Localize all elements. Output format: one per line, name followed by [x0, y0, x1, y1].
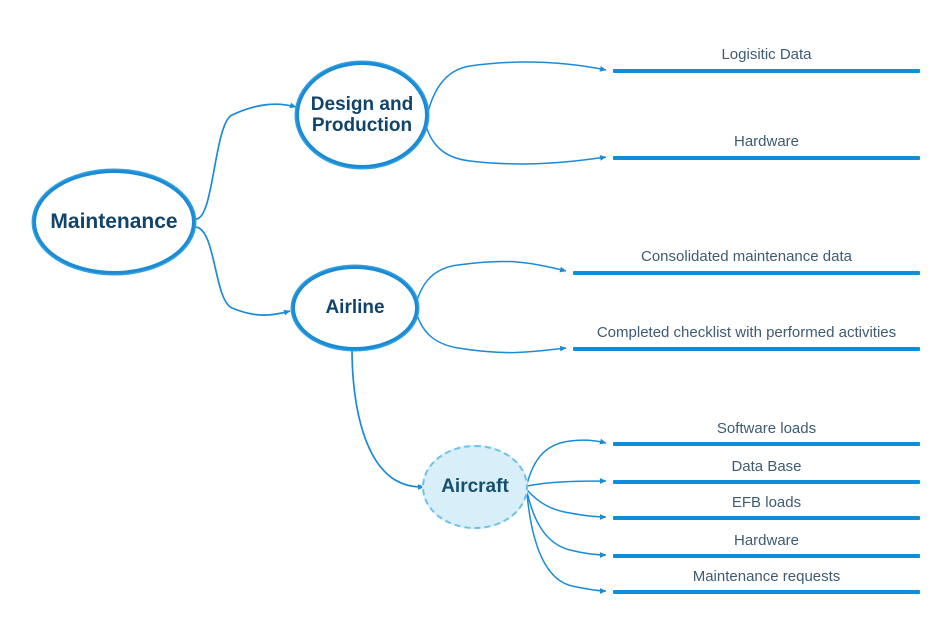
connector-aircraft-to-leaf-1 [527, 481, 606, 486]
leaf-bar-aircraft-3 [613, 554, 920, 558]
leaf-bar-aircraft-1 [613, 480, 920, 484]
leaf-label-aircraft-3: Hardware [613, 532, 920, 549]
node-airline[interactable]: Airline [292, 266, 418, 350]
connector-root-to-airline [196, 227, 290, 315]
connector-aircraft-to-leaf-2 [527, 490, 606, 517]
connector-root-to-design [196, 104, 296, 219]
leaf-label-design-1: Hardware [613, 133, 920, 150]
leaf-bar-aircraft-4 [613, 590, 920, 594]
node-maintenance[interactable]: Maintenance [33, 170, 195, 274]
node-aircraft[interactable]: Aircraft [422, 445, 528, 529]
node-design-and-production[interactable]: Design and Production [296, 62, 428, 168]
connector-aircraft-to-leaf-4 [527, 494, 606, 591]
node-design-and-production-label: Design and Production [307, 94, 417, 137]
leaf-label-aircraft-2: EFB loads [613, 494, 920, 511]
leaf-label-design-0: Logisitic Data [613, 46, 920, 63]
leaf-label-aircraft-0: Software loads [613, 420, 920, 437]
node-maintenance-label: Maintenance [50, 210, 177, 234]
leaf-bar-airline-0 [573, 271, 920, 275]
leaf-bar-airline-1 [573, 347, 920, 351]
leaf-label-airline-0: Consolidated maintenance data [573, 248, 920, 265]
mindmap-canvas: Maintenance Design and Production Airlin… [0, 0, 943, 622]
leaf-bar-design-1 [613, 156, 920, 160]
connector-design-to-leaf-0 [426, 62, 606, 120]
connector-design-to-leaf-1 [426, 126, 606, 164]
leaf-bar-design-0 [613, 69, 920, 73]
leaf-label-aircraft-4: Maintenance requests [613, 568, 920, 585]
node-aircraft-label: Aircraft [441, 476, 509, 497]
leaf-label-aircraft-1: Data Base [613, 458, 920, 475]
connector-airline-to-leaf-1 [416, 312, 566, 353]
connector-airline-to-leaf-0 [416, 261, 566, 304]
node-airline-label: Airline [325, 297, 384, 318]
leaf-bar-aircraft-0 [613, 442, 920, 446]
connector-airline-to-aircraft [352, 348, 424, 487]
leaf-label-airline-1: Completed checklist with performed activ… [573, 324, 920, 341]
connector-aircraft-to-leaf-0 [527, 440, 606, 484]
leaf-bar-aircraft-2 [613, 516, 920, 520]
